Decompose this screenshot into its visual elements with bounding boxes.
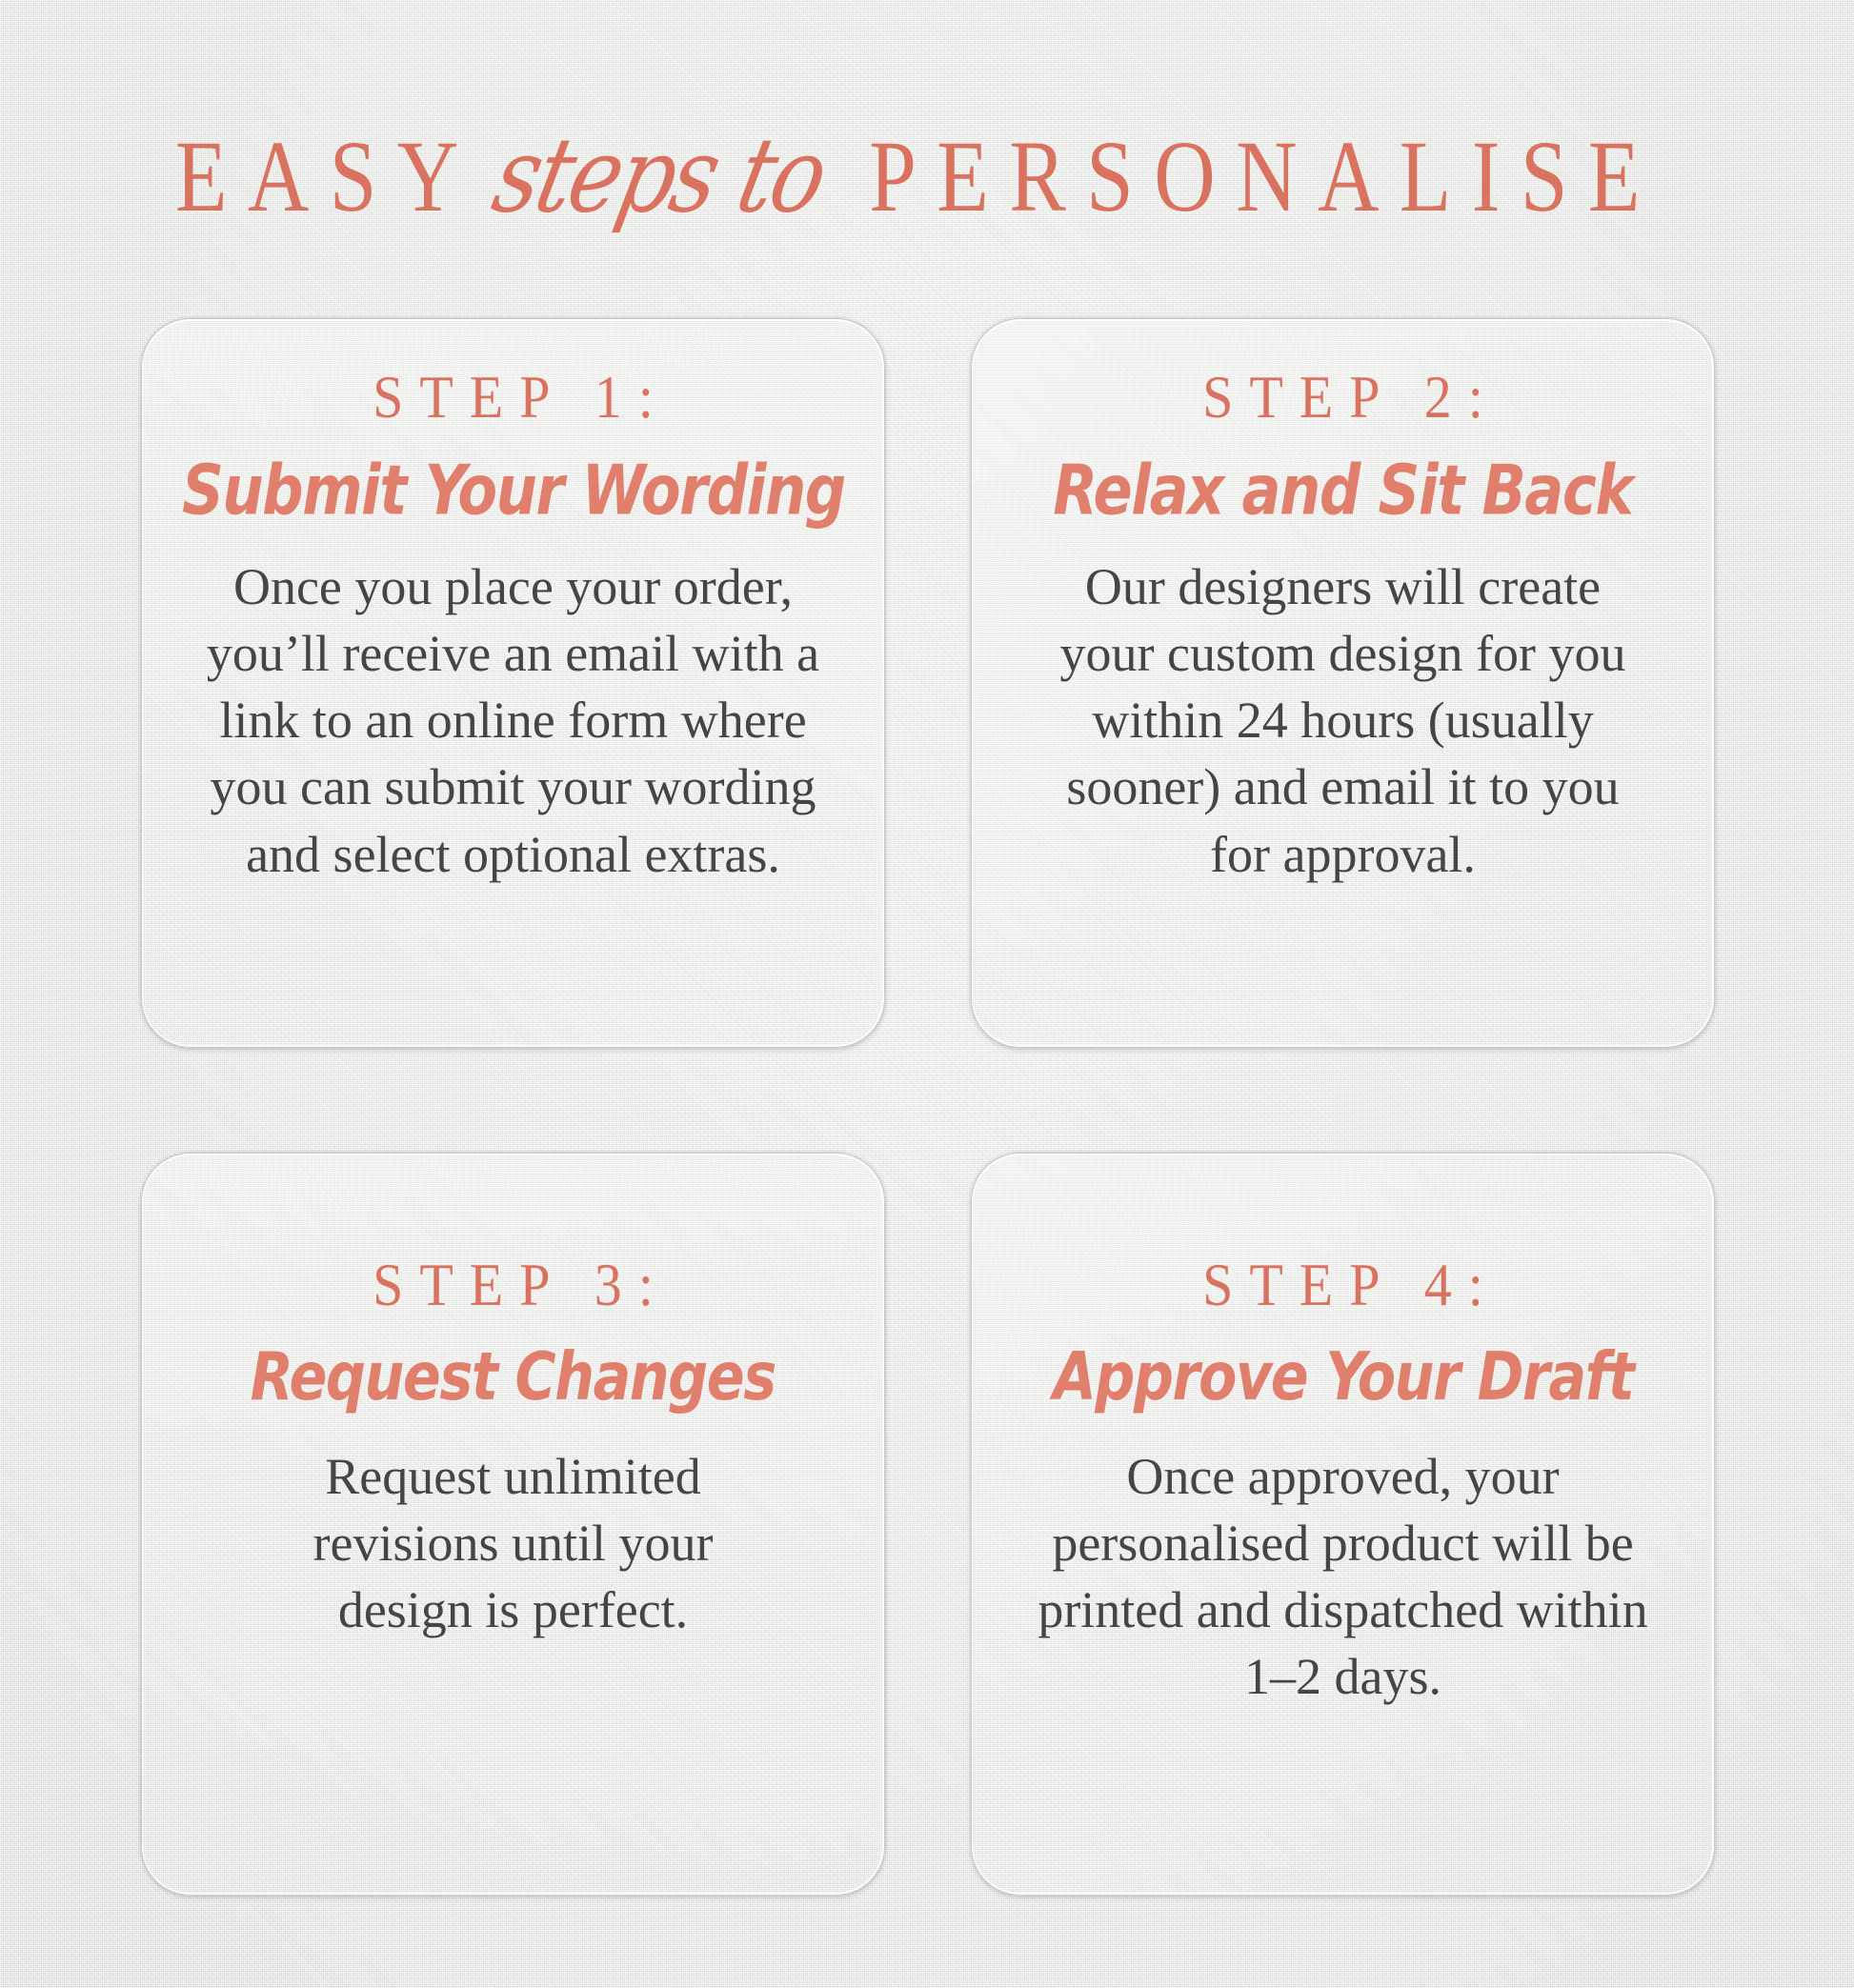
step-2-body: Our designers will create your custom de… — [1038, 553, 1648, 888]
step-2-title: Relax and Sit Back — [1053, 456, 1632, 525]
step-1-body: Once you place your order, you’ll receiv… — [180, 553, 847, 888]
step-4-title: Approve Your Draft — [1053, 1344, 1633, 1411]
personalisation-steps-page: EASY steps to PERSONALISE STEP 1: Submit… — [0, 0, 1854, 1988]
page-title-word-personalise: PERSONALISE — [869, 125, 1661, 228]
page-title: EASY steps to PERSONALISE — [0, 114, 1854, 238]
step-3-label: STEP 3: — [356, 1254, 670, 1317]
step-card-2: STEP 2: Relax and Sit Back Our designers… — [971, 318, 1715, 1048]
step-card-3: STEP 3: Request Changes Request unlimite… — [141, 1153, 885, 1896]
step-2-label: STEP 2: — [1186, 366, 1500, 430]
step-1-title: Submit Your Wording — [182, 456, 845, 525]
step-4-label: STEP 4: — [1186, 1254, 1500, 1317]
steps-grid: STEP 1: Submit Your Wording Once you pla… — [141, 318, 1715, 1896]
page-title-word-easy: EASY — [175, 125, 479, 228]
step-1-label: STEP 1: — [356, 366, 670, 430]
step-card-1: STEP 1: Submit Your Wording Once you pla… — [141, 318, 885, 1048]
step-3-body: Request unlimited revisions until your d… — [266, 1443, 761, 1644]
step-4-body: Once approved, your personalised product… — [1015, 1443, 1672, 1711]
page-title-script-steps-to: steps to — [479, 125, 850, 229]
step-card-4: STEP 4: Approve Your Draft Once approved… — [971, 1153, 1715, 1896]
step-3-title: Request Changes — [251, 1344, 776, 1411]
